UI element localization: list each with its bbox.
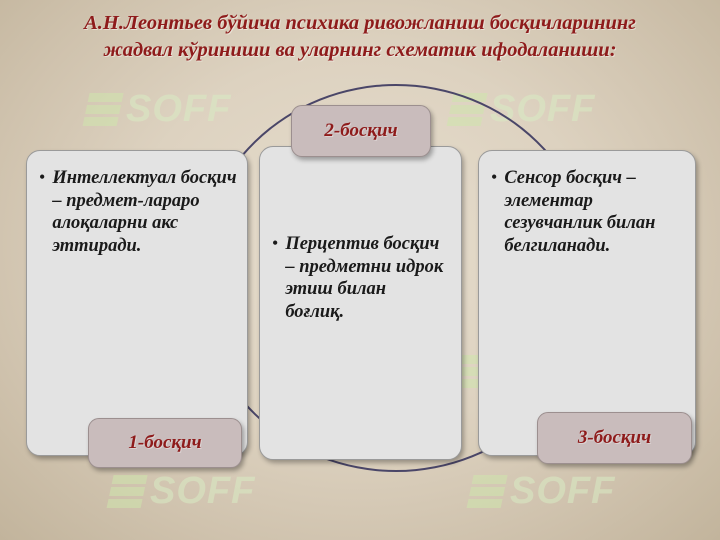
stage-card-text: Интеллектуал босқич – предмет-лараро ало… [52,167,237,257]
stage-card-text: Сенсор босқич – элементар сезувчанлик би… [504,167,685,257]
watermark-label: SOFF [126,88,231,130]
page-title-line-2: жадвал кўриниши ва уларнинг схематик ифо… [18,37,702,64]
stage-label-2: 2-босқич [291,105,431,157]
card-bullet-row: • Сенсор босқич – элементар сезувчанлик … [491,167,685,257]
stage-card-intellectual: • Интеллектуал босқич – предмет-лараро а… [26,150,248,456]
bullet-icon: • [491,167,497,189]
page-title-line-1: А.Н.Леонтьев бўйича психика ривожланиш б… [18,10,702,37]
stage-card-sensor: • Сенсор босқич – элементар сезувчанлик … [478,150,696,456]
watermark-label: SOFF [150,470,255,512]
watermark-logo: SOFF [110,470,255,513]
watermark-logo: SOFF [470,470,615,513]
bullet-icon: • [272,233,278,255]
soff-brick-icon [82,93,123,127]
stage-label-3: 3-босқич [537,412,692,464]
card-bullet-row: • Перцептив босқич – предметни идрок эти… [272,233,449,323]
card-bullet-row: • Интеллектуал босқич – предмет-лараро а… [39,167,237,257]
stage-card-text: Перцептив босқич – предметни идрок этиш … [285,233,449,323]
soff-brick-icon [106,475,147,509]
page-title: А.Н.Леонтьев бўйича психика ривожланиш б… [18,10,702,64]
watermark-logo: SOFF [86,88,231,131]
slide: SOFF SOFF SOFF SOFF SOFF SOFF А.Н.Леонть… [0,0,720,540]
stage-card-perceptive: • Перцептив босқич – предметни идрок эти… [259,146,462,460]
stage-label-1: 1-босқич [88,418,242,468]
bullet-icon: • [39,167,45,189]
watermark-label: SOFF [510,470,615,512]
soff-brick-icon [466,475,507,509]
